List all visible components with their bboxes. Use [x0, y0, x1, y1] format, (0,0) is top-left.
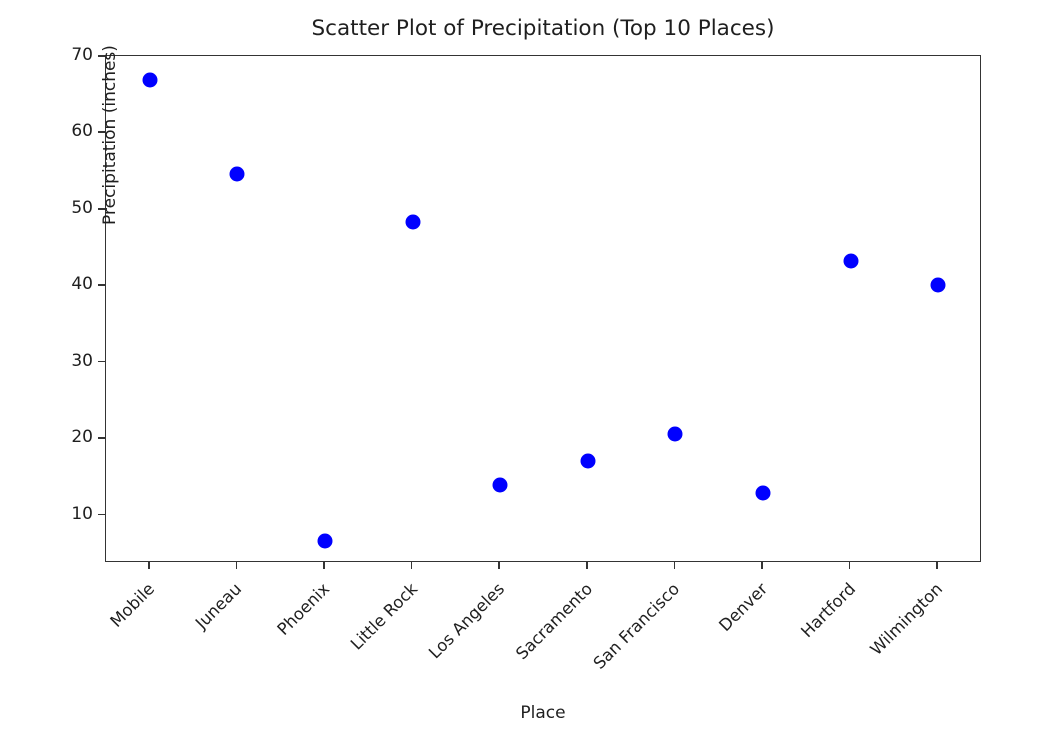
x-tick-label-text: Los Angeles: [425, 579, 508, 662]
x-tick-label-text: Mobile: [106, 579, 158, 631]
y-tick-mark: [98, 284, 105, 286]
x-tick-label-text: Juneau: [192, 579, 245, 632]
y-tick-label: 40: [71, 274, 93, 294]
x-tick-label-text: Denver: [715, 579, 771, 635]
y-tick-label: 50: [71, 198, 93, 218]
data-point: [493, 478, 508, 493]
page-title: Scatter Plot of Precipitation (Top 10 Pl…: [105, 16, 981, 41]
data-point: [405, 214, 420, 229]
x-tick-mark: [236, 562, 238, 569]
x-tick-label-text: San Francisco: [590, 579, 684, 673]
x-tick-mark: [411, 562, 413, 569]
data-point: [668, 426, 683, 441]
data-point: [230, 166, 245, 181]
y-tick-label: 10: [71, 504, 93, 524]
plot-area: [105, 55, 981, 562]
y-tick-mark: [98, 361, 105, 363]
data-point: [318, 533, 333, 548]
data-point: [843, 253, 858, 268]
data-point: [580, 453, 595, 468]
figure-canvas: Scatter Plot of Precipitation (Top 10 Pl…: [0, 0, 1053, 748]
x-tick-mark: [586, 562, 588, 569]
x-tick-mark: [674, 562, 676, 569]
data-point: [756, 485, 771, 500]
x-tick-label-text: Little Rock: [346, 579, 420, 653]
y-tick-label: 60: [71, 121, 93, 141]
y-tick-label: 70: [71, 45, 93, 65]
scatter-points-layer: [106, 56, 980, 561]
y-tick-mark: [98, 514, 105, 516]
x-tick-label-text: Wilmington: [867, 579, 947, 659]
y-tick-label: 30: [71, 351, 93, 371]
x-tick-label-text: Phoenix: [273, 579, 333, 639]
x-tick-mark: [323, 562, 325, 569]
data-point: [142, 72, 157, 87]
x-tick-mark: [761, 562, 763, 569]
x-tick-mark: [148, 562, 150, 569]
x-tick-label-text: Sacramento: [512, 579, 596, 663]
y-tick-mark: [98, 437, 105, 439]
x-tick-mark: [498, 562, 500, 569]
y-axis-label: Precipitation (inches): [100, 5, 120, 265]
y-tick-label: 20: [71, 427, 93, 447]
x-tick-mark: [936, 562, 938, 569]
x-tick-mark: [849, 562, 851, 569]
x-axis-label: Place: [105, 703, 981, 723]
data-point: [931, 277, 946, 292]
x-tick-label-text: Hartford: [797, 579, 859, 641]
